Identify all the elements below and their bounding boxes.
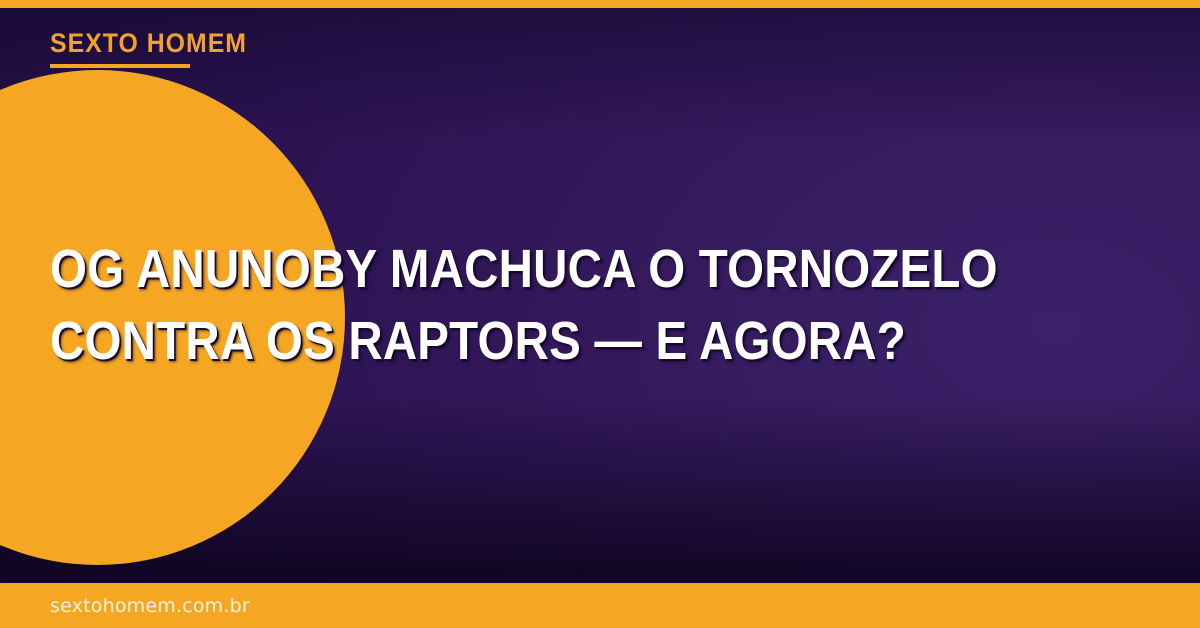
share-card: SEXTO HOMEM OG ANUNOBY MACHUCA O TORNOZE… <box>0 0 1200 628</box>
top-accent-bar <box>0 0 1200 8</box>
brand-underline <box>50 64 190 68</box>
headline-line-1: OG ANUNOBY MACHUCA O TORNOZELO <box>50 233 1009 305</box>
page-title: OG ANUNOBY MACHUCA O TORNOZELO CONTRA OS… <box>50 233 1140 377</box>
footer-bar: sextohomem.com.br <box>0 583 1200 628</box>
brand-name: SEXTO HOMEM <box>50 30 247 57</box>
footer-site-url[interactable]: sextohomem.com.br <box>50 595 250 617</box>
headline-line-2: CONTRA OS RAPTORS — E AGORA? <box>50 305 1009 377</box>
brand-logo[interactable]: SEXTO HOMEM <box>50 30 264 68</box>
